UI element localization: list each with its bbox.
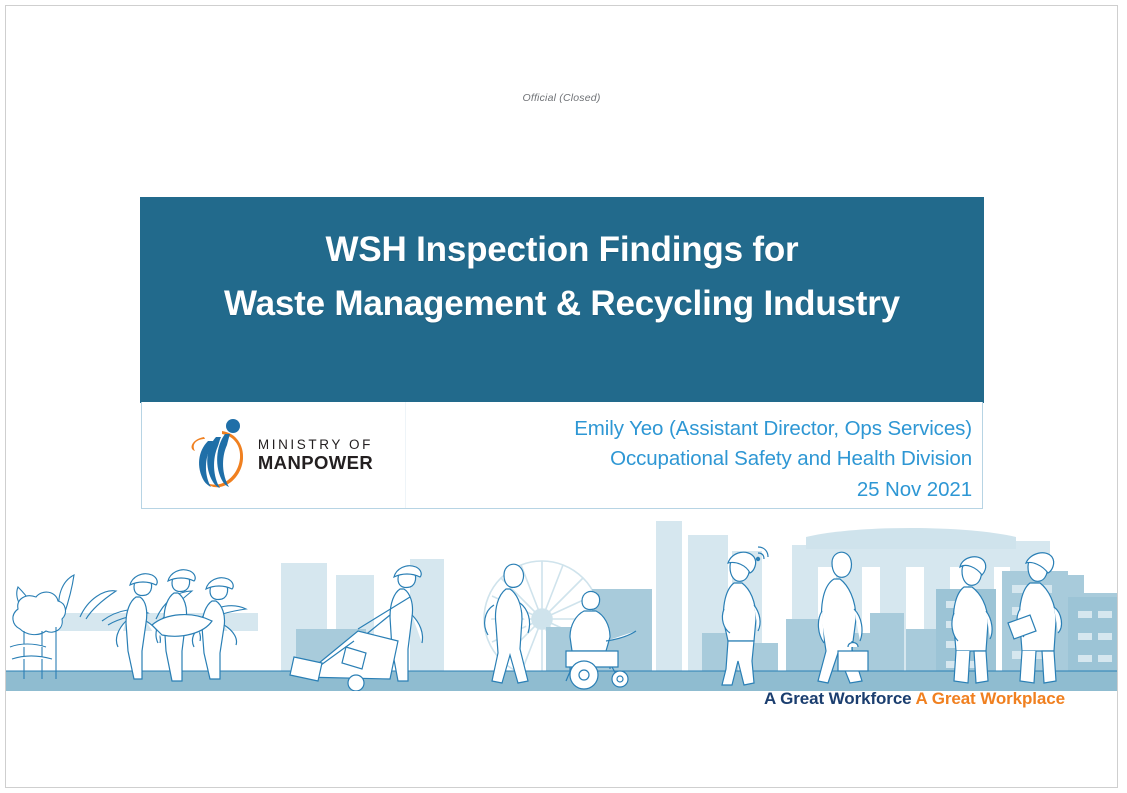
title-card: WSH Inspection Findings for Waste Manage… xyxy=(141,198,983,402)
presenter-name: Emily Yeo (Assistant Director, Ops Servi… xyxy=(406,414,972,444)
illustration-band xyxy=(6,501,1117,691)
wordmark-line-1: MINISTRY OF xyxy=(258,438,373,452)
worker-group-with-plan xyxy=(116,570,236,681)
presenter-details: Emily Yeo (Assistant Director, Ops Servi… xyxy=(406,402,982,508)
mom-wordmark: MINISTRY OF MANPOWER xyxy=(258,438,373,472)
wordmark-line-2: MANPOWER xyxy=(258,454,373,473)
marina-bay-sands xyxy=(806,528,1016,549)
page-title: WSH Inspection Findings for Waste Manage… xyxy=(141,223,983,332)
presenter-card: MINISTRY OF MANPOWER Emily Yeo (Assistan… xyxy=(141,402,983,509)
tagline-workplace: A Great Workplace xyxy=(916,689,1065,708)
mom-logo-mark-icon xyxy=(186,415,248,495)
tagline: A Great Workforce A Great Workplace xyxy=(764,689,1065,709)
slide-page: Official (Closed) WSH Inspection Finding… xyxy=(0,0,1127,793)
slide-canvas: Official (Closed) WSH Inspection Finding… xyxy=(6,6,1117,787)
walking-man-backpack xyxy=(485,564,530,683)
logo-cell: MINISTRY OF MANPOWER xyxy=(142,402,406,508)
tree-left xyxy=(10,592,65,679)
title-line-1: WSH Inspection Findings for xyxy=(141,223,983,277)
ministry-of-manpower-logo: MINISTRY OF MANPOWER xyxy=(186,415,373,495)
classification-marking: Official (Closed) xyxy=(6,92,1117,104)
title-line-2: Waste Management & Recycling Industry xyxy=(141,277,983,331)
presenter-division: Occupational Safety and Health Division xyxy=(406,444,972,474)
tagline-workforce: A Great Workforce xyxy=(764,689,916,708)
